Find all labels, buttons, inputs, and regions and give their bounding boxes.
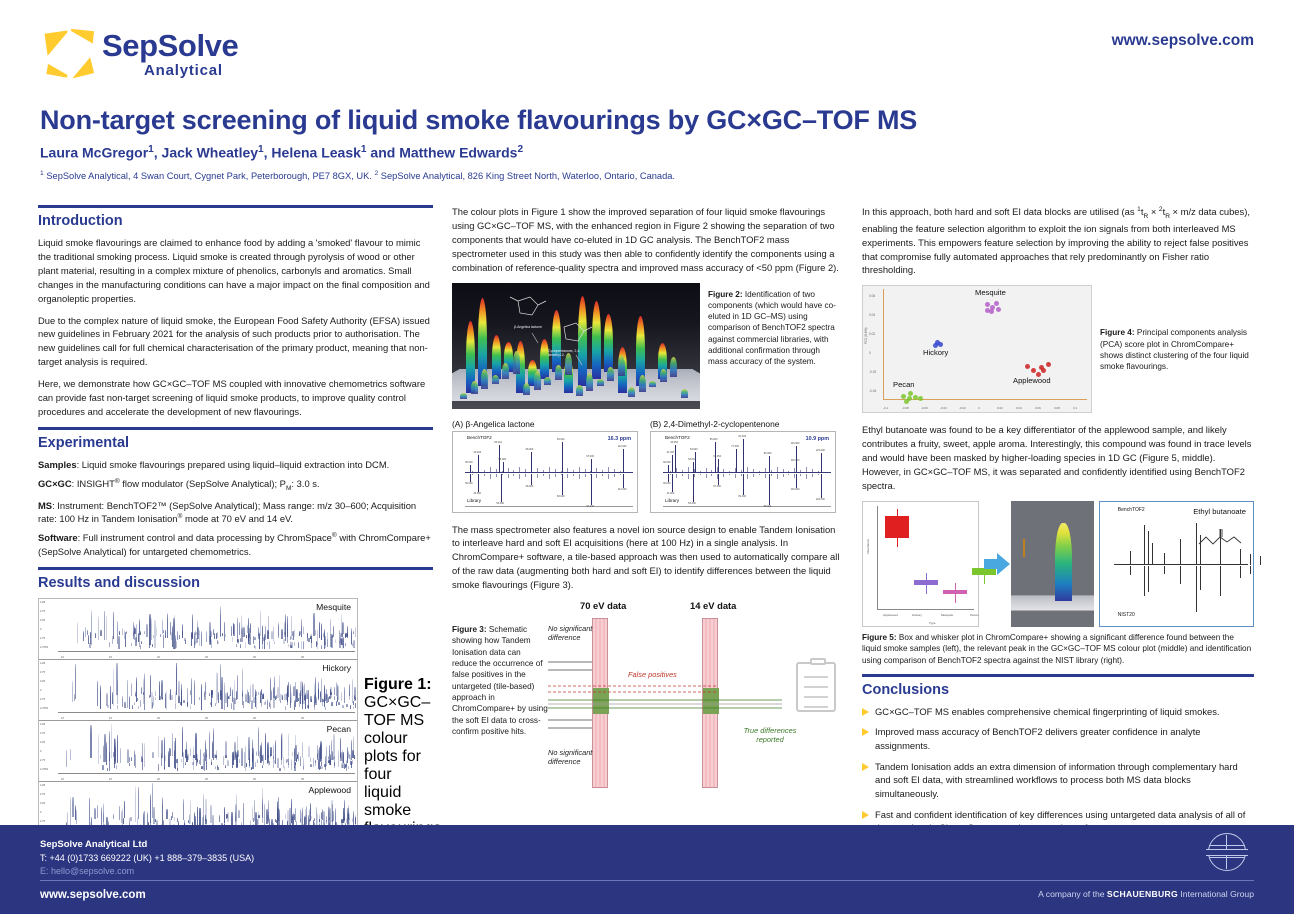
mass-spectrum-peak-label: 67.054 [713, 455, 721, 458]
figure-5-spectrum-peak [1148, 566, 1149, 592]
figure-1-sample-label-mesquite: Mesquite [316, 602, 351, 612]
figure-4-x-tick: -0.04 [940, 406, 947, 410]
mass-spectrum-minor-peak [555, 469, 556, 473]
divider [38, 567, 433, 570]
figure-1-y-tick: 2.75 [40, 759, 45, 762]
mass-spectrum-peak-label: 39.000 [465, 461, 473, 464]
mass-spectrum-minor-peak [735, 474, 736, 479]
mass-spectrum-peak-label: 53.001 [494, 441, 502, 444]
figure-4-score-point-pecan [904, 399, 909, 404]
mass-spectrum-minor-peak [543, 470, 544, 473]
section-heading-conclusions: Conclusions [862, 682, 1254, 698]
mass-spectrum-peak-label: 110.072 [791, 459, 800, 462]
mass-spectrum-peak [562, 474, 563, 495]
spectrum-b-bottom-label: Library [665, 498, 679, 503]
mass-spectrum-peak-label: 43.034 [473, 451, 481, 454]
mass-spectrum-peak-label: 77.000 [731, 445, 739, 448]
experimental-item-samples: Samples: Liquid smoke flavourings prepar… [38, 458, 433, 472]
figure-2: β-Angelica lactoneCyclopentanone, 2,4-di… [452, 283, 840, 409]
mass-spectrum-peak [623, 449, 624, 473]
figure-1-caption: Figure 1: GC×GC–TOF MS colour plots for … [364, 598, 432, 844]
mass-spectrum-minor-peak [723, 469, 724, 473]
mass-spectrum-minor-peak [729, 471, 730, 473]
mass-spectrum-peak-label: 54.000 [690, 448, 698, 451]
mass-spectrum-minor-peak [484, 474, 485, 477]
mass-spectrum-peak [531, 452, 532, 473]
figure-5-spectrum-peak [1144, 525, 1145, 565]
mass-spectrum-minor-peak [502, 474, 503, 476]
mass-spectrum-minor-peak [682, 474, 683, 477]
intro-paragraph-1: Liquid smoke flavourings are claimed to … [38, 236, 433, 306]
mass-spectrum-peak-label: 110.000 [791, 488, 800, 491]
mass-spectrum-peak-label: 83.001 [557, 438, 565, 441]
mass-spectrum-minor-peak [812, 469, 813, 473]
spectrum-panel-b: (B) 2,4-Dimethyl-2-cyclopentenone BenchT… [650, 419, 836, 513]
mass-spectrum-minor-peak [688, 467, 689, 473]
mass-spectrum-peak [470, 465, 471, 473]
figure-1-plot-area [58, 722, 355, 773]
figure-4-score-point-mesquite [996, 307, 1001, 312]
mass-spectrum-peak-label: 43.053 [670, 441, 678, 444]
mass-spectrum-minor-peak [771, 470, 772, 473]
footer-company-name: SepSolve Analytical Ltd [40, 839, 147, 850]
experimental-item-ms: MS: Instrument: BenchTOF2™ (SepSolve Ana… [38, 499, 433, 527]
figure-1-x-tick: 15 [109, 717, 112, 720]
figure-5-spectrum-peak [1220, 529, 1221, 565]
footer-group-prefix: A company of the [1038, 889, 1107, 899]
figure-1-y-tick: 3.25 [40, 680, 45, 683]
mass-spectrum-minor-peak [614, 469, 615, 473]
sepsolve-logo: SepSolve Analytical [44, 28, 238, 80]
figure-4-label-applewood: Applewood [1013, 376, 1051, 385]
mass-spectrum-minor-peak [590, 471, 591, 473]
figure-1-x-tick: 20 [157, 717, 160, 720]
mass-spectrum-peak-label: 68.000 [526, 448, 534, 451]
figure-1-x-tick: 10 [61, 717, 64, 720]
mass-spectrum-minor-peak [800, 474, 801, 477]
figure-4: PC2 (8.6%) Mesquite Hickory Pecan Applew… [862, 285, 1254, 413]
figure-1-y-tick: 4.28 [40, 601, 45, 604]
mass-spectrum-minor-peak [818, 471, 819, 473]
mass-spectrum-peak [591, 459, 592, 473]
authors-line: Laura McGregor1, Jack Wheatley1, Helena … [40, 144, 1250, 161]
mass-spectrum-peak [693, 474, 694, 502]
middle-paragraph-1: The colour plots in Figure 1 show the im… [452, 205, 840, 275]
figure-5-spectrum-peak [1260, 556, 1261, 565]
mass-spectrum-peak-label: 81.000 [738, 495, 746, 498]
figure-5-spectrum-peak [1130, 551, 1131, 565]
mass-spectrum-peak [503, 462, 504, 473]
figure-5-spectrum-peak [1240, 549, 1241, 565]
mass-spectrum-minor-peak [711, 474, 712, 477]
intro-paragraph-2: Due to the complex nature of liquid smok… [38, 314, 433, 370]
figure-4-x-tick: -0.06 [921, 406, 928, 410]
poster-footer: SepSolve Analytical Ltd T: +44 (0)1733 6… [0, 825, 1294, 914]
mass-spectrum-peak-label: 112.002 [618, 445, 627, 448]
figure-1-y-tick: 2.4753 [40, 707, 48, 710]
mass-spectrum-minor-peak [759, 471, 760, 473]
figure-1-y-tick: 3 [40, 628, 41, 631]
mass-spectrum-peak [623, 474, 624, 488]
figure-1-sample-label-applewood: Applewood [308, 785, 351, 795]
mass-spectrum-minor-peak [783, 469, 784, 473]
figure-1-x-tick: 30 [253, 656, 256, 659]
mass-spectrum-minor-peak [706, 474, 707, 479]
mass-spectrum-minor-peak [794, 468, 795, 473]
figure-4-score-point-hickory [938, 342, 943, 347]
section-heading-introduction: Introduction [38, 213, 433, 229]
figure-4-y-tick: 0.04 [869, 313, 875, 317]
figure-4-y-axis-label: PC2 (8.6%) [864, 328, 868, 344]
figure-5-caption: Figure 5: Box and whisker plot in ChromC… [862, 632, 1254, 666]
figure-5-box-x-label: Type [929, 621, 936, 625]
figure-5-spectrum-peak [1196, 523, 1197, 565]
figure-1-y-tick: 3.25 [40, 741, 45, 744]
mass-spectrum-minor-peak [783, 474, 784, 478]
conclusion-text: Tandem Ionisation adds an extra dimensio… [875, 760, 1254, 801]
mass-spectrum-minor-peak [525, 469, 526, 473]
figure-4-y-tick: -0.04 [869, 389, 876, 393]
mass-spectrum-minor-peak [676, 474, 677, 479]
figure-4-label-hickory: Hickory [923, 348, 948, 357]
figure-5-box-applewood [885, 502, 909, 612]
figure-1-y-tick: 3.75 [40, 610, 45, 613]
mass-spectrum-peak [796, 463, 797, 473]
mass-spectrum-peak [743, 439, 744, 473]
mass-spectrum-minor-peak [549, 474, 550, 480]
figure-1-y-tick: 2.75 [40, 637, 45, 640]
spectrum-a-title: (A) β-Angelica lactone [452, 419, 638, 429]
mass-spectrum-peak [718, 459, 719, 473]
footer-group-name: SCHAUENBURG [1107, 889, 1178, 899]
mass-spectrum-peak [668, 474, 669, 482]
mass-spectrum-minor-peak [608, 474, 609, 480]
mass-spectrum-peak-label: 54.000 [496, 502, 504, 505]
mass-spectrum-peak-label: 53.000 [688, 502, 696, 505]
figure-4-x-tick: 0.04 [1016, 406, 1022, 410]
figure-5-box-category-label: Applewood [883, 613, 898, 617]
figure-1-x-tick: 15 [109, 656, 112, 659]
mass-spectrum-minor-peak [688, 474, 689, 480]
middle-column: The colour plots in Figure 1 show the im… [452, 205, 840, 795]
mass-spectrum-minor-peak [753, 474, 754, 478]
mass-spectrum-minor-peak [573, 470, 574, 473]
figure-2-3d-colour-plot: β-Angelica lactoneCyclopentanone, 2,4-di… [452, 283, 700, 409]
mass-spectrum-peak-label: 55.000 [498, 458, 506, 461]
section-heading-experimental: Experimental [38, 435, 433, 451]
mass-spectrum-minor-peak [478, 468, 479, 473]
mass-spectrum-peak-label: 124.000 [816, 449, 825, 452]
footer-group-suffix: International Group [1178, 889, 1254, 899]
spectrum-a-top-label: BenchTOF2 [467, 435, 492, 440]
figure-5-spectrum-peak [1180, 566, 1181, 584]
logo-secondary-text: Analytical [102, 63, 238, 78]
mass-spectrum-peak [821, 474, 822, 498]
mass-spectrum-peak [470, 474, 471, 482]
mass-spectrum-minor-peak [765, 468, 766, 473]
mass-spectrum-minor-peak [806, 467, 807, 473]
mass-spectrum-minor-peak [788, 474, 789, 476]
figure-5-box-mesquite [943, 502, 967, 612]
mass-spectrum-minor-peak [537, 468, 538, 473]
figure-5-spectrum-peak [1250, 566, 1251, 574]
figure-5-spectrum-peak [1200, 535, 1201, 565]
figure-5-spectrum-comparison: BenchTOF2 NIST20 Ethyl butanoate [1099, 501, 1254, 627]
figure-1-y-tick: 2.75 [40, 820, 45, 823]
mass-spectrum-minor-peak [555, 474, 556, 478]
figure-2-caption: Figure 2: Identification of two componen… [708, 283, 838, 409]
mass-spectrum-minor-peak [723, 474, 724, 478]
mass-spectrum-minor-peak [508, 468, 509, 473]
mass-spectrum-peak-label: 68.000 [526, 485, 534, 488]
experimental-item-gcxgc: GC×GC: INSIGHT® flow modulator (SepSolve… [38, 477, 433, 494]
conclusion-text: Improved mass accuracy of BenchTOF2 deli… [875, 725, 1254, 752]
middle-paragraph-2: The mass spectrometer also features a no… [452, 523, 840, 593]
figure-4-x-tick: -0.02 [959, 406, 966, 410]
mass-spectrum-minor-peak [567, 468, 568, 473]
figure-5-spectrum-peak [1196, 566, 1197, 612]
figure-5-spectrum-top-label: BenchTOF2 [1118, 507, 1145, 513]
right-paragraph-2: Ethyl butanoate was found to be a key di… [862, 423, 1254, 493]
mass-spectrum-minor-peak [694, 474, 695, 478]
figure-1-y-tick: 3 [40, 750, 41, 753]
figure-4-score-point-mesquite [994, 301, 999, 306]
mass-spectrum-peak-label: 112.000 [618, 488, 627, 491]
conclusion-item: Tandem Ionisation adds an extra dimensio… [862, 760, 1254, 801]
mass-spectrum-minor-peak [741, 470, 742, 473]
mass-spectrum-peak-label: 41.037 [667, 451, 675, 454]
figure-2-spectra-row: (A) β-Angelica lactone BenchTOF2 Library… [452, 419, 840, 513]
figure-5-spectrum-bottom-label: NIST20 [1118, 612, 1135, 618]
mass-spectrum-peak-label: 43.000 [473, 492, 481, 495]
mass-spectrum-minor-peak [735, 468, 736, 473]
mass-spectrum-minor-peak [771, 474, 772, 477]
mass-spectrum-peak-label: 110.000 [791, 442, 800, 445]
mass-spectrum-minor-peak [706, 468, 707, 473]
mass-spectrum-minor-peak [747, 467, 748, 473]
mass-spectrum-minor-peak [788, 471, 789, 473]
mass-spectrum-minor-peak [543, 474, 544, 477]
mass-spectrum-minor-peak [519, 474, 520, 480]
mass-spectrum-peak [821, 453, 822, 473]
mass-spectrum-minor-peak [620, 471, 621, 473]
figure-4-y-tick: 0.06 [869, 294, 875, 298]
left-column: Introduction Liquid smoke flavourings ar… [38, 205, 433, 844]
mass-spectrum-minor-peak [549, 467, 550, 473]
figure-1-plot-area [58, 661, 355, 712]
experimental-item-software: Software: Full instrument control and da… [38, 531, 433, 559]
mass-spectrum-minor-peak [694, 469, 695, 473]
mass-spectrum-minor-peak [561, 474, 562, 476]
figure-4-x-tick: 0.02 [997, 406, 1003, 410]
mass-spectrum-minor-peak [596, 468, 597, 473]
spectrum-b-plot: BenchTOF2 Library 10.9 ppm 39.00041.0374… [650, 431, 836, 513]
mass-spectrum-minor-peak [711, 470, 712, 473]
figure-5-spectrum-peak [1180, 539, 1181, 565]
figure-5-arrow-icon [984, 551, 1006, 577]
figure-5-spectrum-peak [1130, 566, 1131, 575]
mass-spectrum-peak [501, 474, 502, 502]
mass-spectrum-peak [718, 474, 719, 485]
mass-spectrum-minor-peak [484, 470, 485, 473]
mass-spectrum-minor-peak [579, 474, 580, 480]
mass-spectrum-minor-peak [759, 474, 760, 476]
mass-spectrum-peak-label: 95.000 [764, 505, 772, 508]
figure-4-x-tick: -0.08 [902, 406, 909, 410]
figure-1-y-tick: 3 [40, 811, 41, 814]
figure-5-spectrum-peak [1250, 554, 1251, 565]
mass-spectrum-minor-peak [525, 474, 526, 478]
figure-1-x-tick: 10 [61, 778, 64, 781]
mass-spectrum-minor-peak [620, 474, 621, 476]
bullet-triangle-icon [862, 728, 869, 736]
logo-primary-text: SepSolve [102, 30, 238, 61]
figure-1-x-tick: 20 [157, 778, 160, 781]
figure-1-x-tick: 35 [301, 717, 304, 720]
spectrum-b-ppm-value: 10.9 ppm [806, 436, 829, 442]
mass-spectrum-minor-peak [818, 474, 819, 476]
figure-1-y-tick: 3 [40, 689, 41, 692]
figure-4-score-point-applewood [1025, 364, 1030, 369]
mass-spectrum-minor-peak [502, 471, 503, 473]
conclusion-item: Improved mass accuracy of BenchTOF2 deli… [862, 725, 1254, 752]
figure-5-spectrum-peak [1152, 543, 1153, 565]
divider [38, 427, 433, 430]
figure-5-box-category-label: Mesquite [941, 613, 953, 617]
spectrum-b-top-label: BenchTOF2 [665, 435, 690, 440]
figure-1: 4.283.753.2532.752.4753101520253035Mesqu… [38, 598, 433, 844]
poster-header: SepSolve Analytical www.sepsolve.com [0, 0, 1294, 90]
figure-1-sample-label-pecan: Pecan [327, 724, 351, 734]
figure-1-x-tick: 25 [205, 656, 208, 659]
figure-5-spectrum-peak [1164, 553, 1165, 565]
figure-4-caption: Figure 4: Principal components analysis … [1100, 285, 1250, 413]
mass-spectrum-minor-peak [472, 471, 473, 473]
figure-1-plot-area [58, 600, 355, 651]
mass-spectrum-minor-peak [567, 474, 568, 479]
spectrum-panel-a: (A) β-Angelica lactone BenchTOF2 Library… [452, 419, 638, 513]
figure-1-x-tick: 25 [205, 717, 208, 720]
mass-spectrum-peak-label: 39.000 [465, 482, 473, 485]
spectrum-b-title: (B) 2,4-Dimethyl-2-cyclopentenone [650, 419, 836, 429]
mass-spectrum-peak [769, 456, 770, 473]
figure-1-x-tick: 10 [61, 656, 64, 659]
spectrum-a-plot: BenchTOF2 Library 16.3 ppm 39.00043.0345… [452, 431, 638, 513]
figure-5-spectrum-peak [1164, 566, 1165, 574]
mass-spectrum-minor-peak [717, 474, 718, 480]
figure-1-y-tick: 2.4753 [40, 646, 48, 649]
mass-spectrum-minor-peak [765, 474, 766, 479]
figure-1-x-tick: 35 [301, 656, 304, 659]
figure-1-y-tick: 4.28 [40, 662, 45, 665]
figure-1-y-tick: 2.4753 [40, 768, 48, 771]
figure-4-x-tick: 0 [978, 406, 980, 410]
figure-3-caption: Figure 3: Schematic showing how Tandem I… [452, 624, 548, 737]
mass-spectrum-minor-peak [602, 474, 603, 477]
mass-spectrum-peak-label: 67.000 [713, 485, 721, 488]
mass-spectrum-peak [562, 442, 563, 473]
figure-1-y-tick: 3.75 [40, 793, 45, 796]
mass-spectrum-minor-peak [531, 474, 532, 476]
mass-spectrum-minor-peak [579, 467, 580, 473]
footer-email[interactable]: E: hello@sepsolve.com [40, 866, 134, 876]
bullet-triangle-icon [862, 708, 869, 716]
mass-spectrum-minor-peak [561, 471, 562, 473]
mass-spectrum-peak-label: 95.060 [764, 452, 772, 455]
figure-1-y-tick: 4.28 [40, 723, 45, 726]
figure-1-x-tick: 35 [301, 778, 304, 781]
figure-1-x-tick: 25 [205, 778, 208, 781]
mass-spectrum-minor-peak [812, 474, 813, 478]
mass-spectrum-minor-peak [670, 474, 671, 476]
mass-spectrum-minor-peak [614, 474, 615, 478]
mass-spectrum-minor-peak [531, 471, 532, 473]
mass-spectrum-minor-peak [700, 471, 701, 473]
figure-3: 70 eV data 14 eV data No significant dif… [452, 600, 840, 795]
figure-4-score-point-applewood [1046, 362, 1051, 367]
figure-4-pca-score-plot: PC2 (8.6%) Mesquite Hickory Pecan Applew… [862, 285, 1092, 413]
header-website-url[interactable]: www.sepsolve.com [1112, 32, 1254, 50]
mass-spectrum-minor-peak [585, 469, 586, 473]
mass-spectrum-peak-label: 124.000 [816, 498, 825, 501]
figure-1-x-tick: 30 [253, 778, 256, 781]
figure-5-spectrum-peak [1200, 566, 1201, 590]
mass-spectrum-minor-peak [496, 474, 497, 478]
mass-spectrum-peak [672, 474, 673, 492]
schauenburg-globe-icon [1208, 833, 1246, 871]
figure-4-y-tick: 0.02 [869, 332, 875, 336]
footer-website-url[interactable]: www.sepsolve.com [40, 889, 146, 901]
figure-2-structure-icons [452, 283, 700, 409]
mass-spectrum-minor-peak [573, 474, 574, 477]
footer-telephone: T: +44 (0)1733 669222 (UK) +1 888–379–38… [40, 853, 254, 863]
mass-spectrum-peak-label: 81.000 [738, 435, 746, 438]
figure-1-y-tick: 3.25 [40, 802, 45, 805]
figure-1-sample-label-hickory: Hickory [322, 663, 351, 673]
mass-spectrum-peak [736, 449, 737, 473]
bullet-triangle-icon [862, 811, 869, 819]
figure-5-spectrum-peak [1220, 566, 1221, 596]
mass-spectrum-minor-peak [794, 474, 795, 479]
figure-1-chromatogram-pecan: 4.283.753.2532.752.4753101520253035Pecan [39, 721, 357, 782]
mass-spectrum-peak [672, 455, 673, 473]
figure-1-x-tick: 15 [109, 778, 112, 781]
figure-4-x-tick: -0.1 [883, 406, 888, 410]
mass-spectrum-minor-peak [741, 474, 742, 477]
affiliations-line: 1 SepSolve Analytical, 4 Swan Court, Cyg… [40, 170, 1250, 181]
figure-1-chromatogram-panel: 4.283.753.2532.752.4753101520253035Mesqu… [38, 598, 358, 844]
figure-4-label-mesquite: Mesquite [975, 288, 1006, 297]
figure-4-x-tick: 0.1 [1073, 406, 1077, 410]
mass-spectrum-minor-peak [585, 474, 586, 478]
mass-spectrum-peak [796, 474, 797, 488]
footer-divider [40, 880, 1254, 881]
mass-spectrum-minor-peak [806, 474, 807, 480]
figure-5-colour-plot [1011, 501, 1094, 627]
mass-spectrum-peak-label: 65.000 [710, 438, 718, 441]
figure-1-y-tick: 3.25 [40, 619, 45, 622]
mass-spectrum-minor-peak [753, 469, 754, 473]
figure-4-label-pecan: Pecan [893, 380, 915, 389]
mass-spectrum-minor-peak [729, 474, 730, 476]
figure-5-spectrum-peak [1144, 566, 1145, 596]
figure-5-box-hickory [914, 502, 938, 612]
mass-spectrum-peak-label: 39.000 [663, 482, 671, 485]
poster-root: SepSolve Analytical www.sepsolve.com Non… [0, 0, 1294, 914]
mass-spectrum-minor-peak [777, 467, 778, 473]
figure-1-chromatogram-hickory: 4.283.753.2532.752.4753101520253035Hicko… [39, 660, 357, 721]
mass-spectrum-minor-peak [747, 474, 748, 480]
